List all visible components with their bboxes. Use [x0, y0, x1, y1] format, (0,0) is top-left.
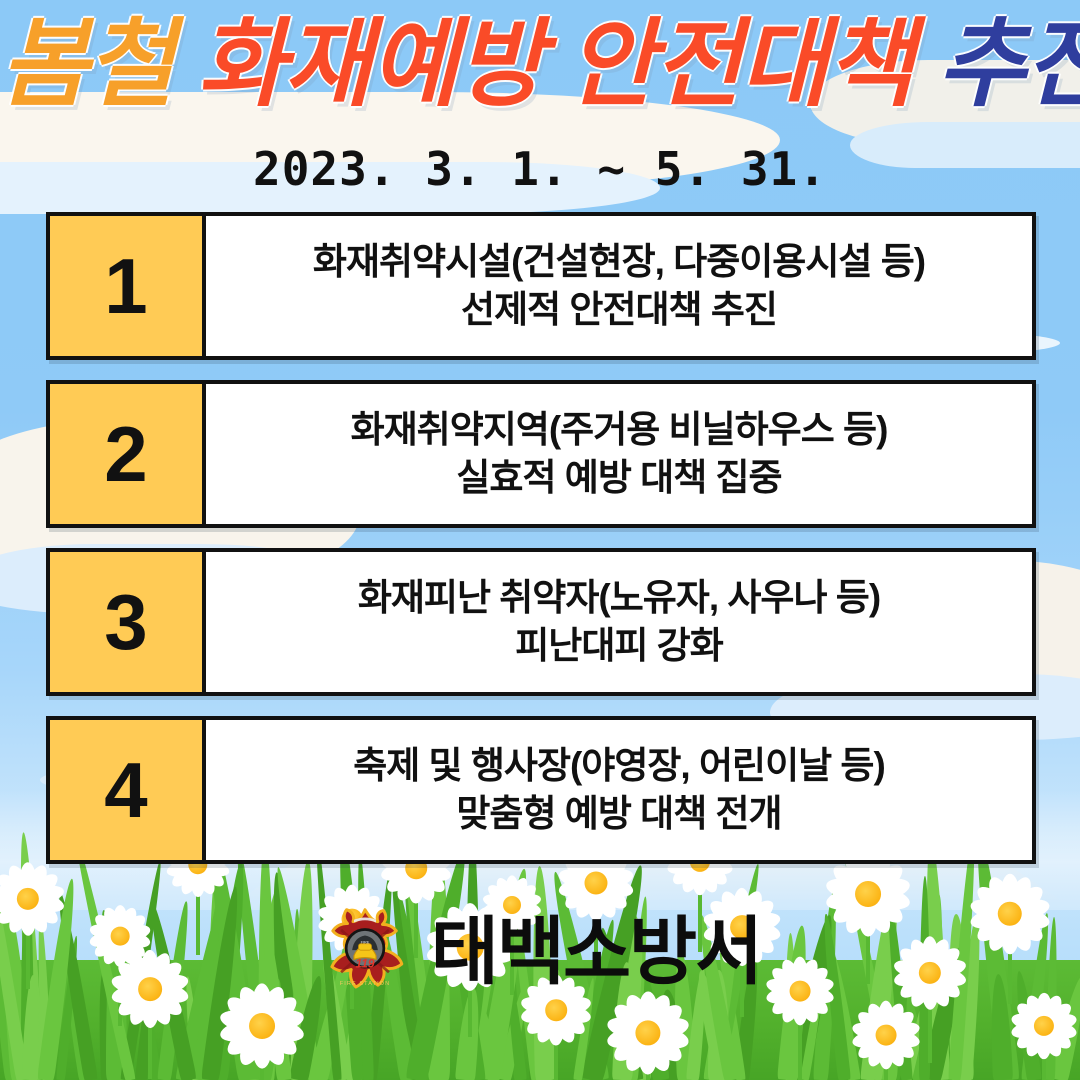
measure-line-2: 실효적 예방 대책 집중	[456, 454, 781, 502]
measure-line-2: 선제적 안전대책 추진	[461, 286, 777, 334]
measure-row: 2화재취약지역(주거용 비닐하우스 등)실효적 예방 대책 집중	[46, 380, 1036, 528]
measure-number-badge: 4	[50, 720, 206, 860]
flower-center	[855, 881, 881, 907]
measure-line-2: 맞춤형 예방 대책 전개	[456, 790, 781, 838]
spring-fire-prevention-poster: 봄철 화재예방 안전대책 추진 2023. 3. 1. ~ 5. 31. 1화재…	[0, 0, 1080, 1080]
measure-line-1: 축제 및 행사장(야영장, 어린이날 등)	[353, 742, 885, 790]
measure-line-2: 피난대피 강화	[515, 622, 723, 670]
title-segment-action: 추진	[937, 11, 1080, 118]
measure-text: 축제 및 행사장(야영장, 어린이날 등)맞춤형 예방 대책 전개	[206, 720, 1032, 860]
measure-line-1: 화재피난 취약자(노유자, 사우나 등)	[358, 574, 880, 622]
daisy-flower	[226, 990, 298, 1062]
organization-name: 태백소방서	[431, 915, 761, 989]
title-segment-season: 봄철	[0, 11, 173, 118]
measure-line-1: 화재취약지역(주거용 비닐하우스 등)	[351, 406, 888, 454]
measure-row: 1화재취약시설(건설현장, 다중이용시설 등)선제적 안전대책 추진	[46, 212, 1036, 360]
fire-department-emblem-icon: FIRE 119 FIRE STATION	[319, 906, 411, 998]
daisy-flower	[1016, 998, 1072, 1054]
measure-number-badge: 1	[50, 216, 206, 356]
daisy-flower	[613, 998, 683, 1068]
measure-text: 화재취약시설(건설현장, 다중이용시설 등)선제적 안전대책 추진	[206, 216, 1032, 356]
flower-center	[876, 1025, 897, 1046]
campaign-date-range: 2023. 3. 1. ~ 5. 31.	[0, 142, 1080, 196]
measure-row: 3화재피난 취약자(노유자, 사우나 등)피난대피 강화	[46, 548, 1036, 696]
measure-number-badge: 3	[50, 552, 206, 692]
measure-row: 4축제 및 행사장(야영장, 어린이날 등)맞춤형 예방 대책 전개	[46, 716, 1036, 864]
flower-center	[545, 999, 567, 1021]
measures-list: 1화재취약시설(건설현장, 다중이용시설 등)선제적 안전대책 추진2화재취약지…	[46, 212, 1036, 884]
svg-text:119: 119	[355, 957, 374, 971]
flower-center	[249, 1013, 275, 1039]
title-segment-topic: 화재예방 안전대책	[197, 11, 912, 118]
footer: FIRE 119 FIRE STATION 태백소방서	[0, 906, 1080, 998]
svg-text:FIRE STATION: FIRE STATION	[340, 981, 390, 987]
measure-line-1: 화재취약시설(건설현장, 다중이용시설 등)	[313, 238, 925, 286]
measure-text: 화재취약지역(주거용 비닐하우스 등)실효적 예방 대책 집중	[206, 384, 1032, 524]
page-title: 봄철 화재예방 안전대책 추진	[0, 16, 1080, 114]
measure-text: 화재피난 취약자(노유자, 사우나 등)피난대피 강화	[206, 552, 1032, 692]
measure-number-badge: 2	[50, 384, 206, 524]
svg-text:FIRE: FIRE	[360, 941, 369, 945]
daisy-flower	[857, 1006, 915, 1064]
